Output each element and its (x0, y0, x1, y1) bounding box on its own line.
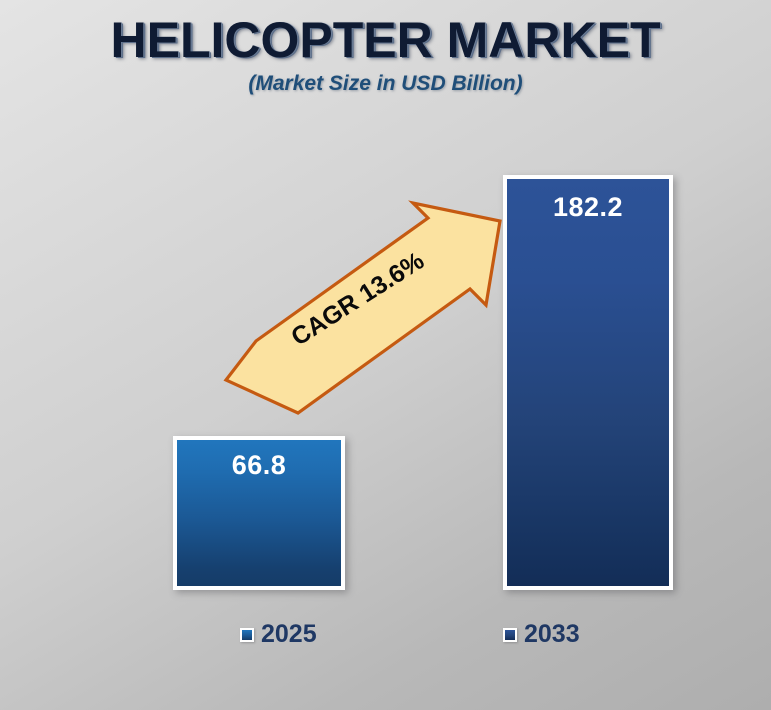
bar-2033: 182.2 (503, 175, 673, 590)
legend-label-2033: 2033 (524, 622, 580, 647)
legend-swatch-icon-2033 (503, 628, 517, 642)
legend-item-2033[interactable]: 2033 (503, 622, 580, 647)
page-title: HELICOPTER MARKET (0, 14, 771, 67)
chart-canvas: HELICOPTER MARKET (Market Size in USD Bi… (0, 0, 771, 710)
legend-label-2025: 2025 (261, 622, 317, 647)
chart-title-block: HELICOPTER MARKET (Market Size in USD Bi… (0, 14, 771, 96)
chart-legend: 2025 2033 (0, 622, 771, 662)
legend-item-2025[interactable]: 2025 (240, 622, 317, 647)
legend-swatch-icon-2025 (240, 628, 254, 642)
chart-subtitle: (Market Size in USD Billion) (0, 72, 771, 96)
cagr-label: CAGR 13.6% (253, 225, 463, 373)
bar-value-label-2033: 182.2 (507, 192, 669, 223)
bar-value-label-2025: 66.8 (177, 450, 341, 481)
bar-2025: 66.8 (173, 436, 345, 590)
